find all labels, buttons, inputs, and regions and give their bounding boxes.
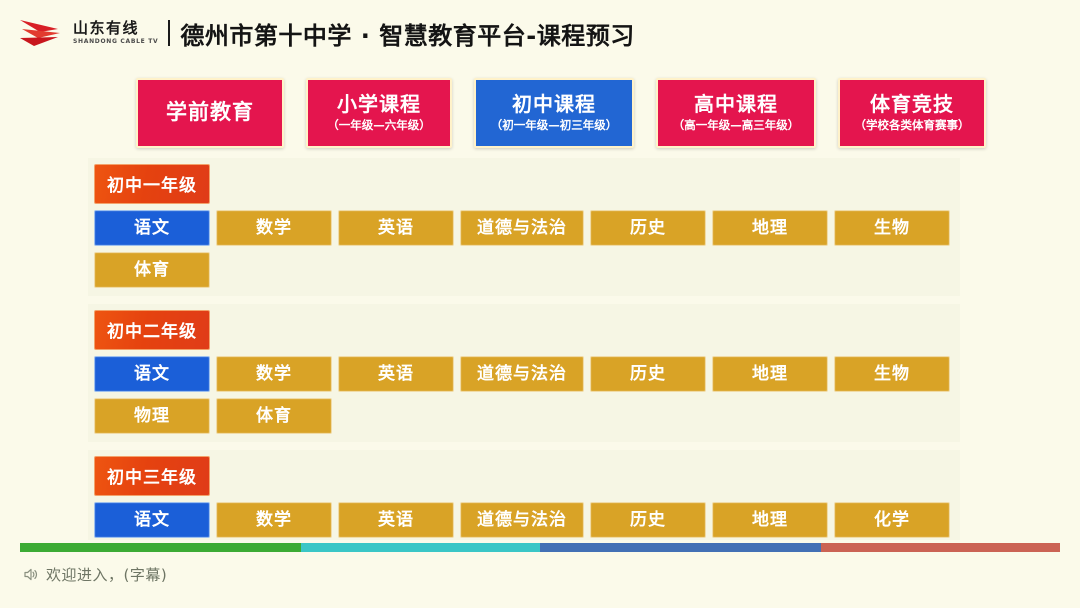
caption-text: 欢迎进入，(字幕): [46, 564, 167, 585]
grade-label[interactable]: 初中二年级: [94, 310, 210, 350]
category-button-senior-high[interactable]: 高中课程 （高一年级—高三年级）: [656, 78, 816, 148]
caption-row: 欢迎进入，(字幕): [22, 564, 167, 585]
page-title: 德州市第十中学 · 智慧教育平台-课程预习: [180, 16, 634, 51]
subject-button[interactable]: 道德与法治: [460, 356, 584, 392]
category-label: 学前教育: [166, 100, 254, 125]
subject-button[interactable]: 英语: [338, 210, 454, 246]
category-label: 体育竞技: [870, 93, 954, 117]
category-button-preschool[interactable]: 学前教育: [136, 78, 284, 148]
category-nav: 学前教育 小学课程 （一年级—六年级） 初中课程 （初一年级—初三年级） 高中课…: [0, 78, 1080, 148]
subject-button[interactable]: 体育: [94, 252, 210, 288]
subject-button[interactable]: 化学: [834, 502, 950, 538]
app-header: 山东有线 SHANDONG CABLE TV 德州市第十中学 · 智慧教育平台-…: [0, 0, 1080, 66]
subject-button[interactable]: 生物: [834, 356, 950, 392]
subject-button[interactable]: 道德与法治: [460, 210, 584, 246]
subject-button[interactable]: 数学: [216, 502, 332, 538]
subject-button[interactable]: 语文: [94, 356, 210, 392]
category-label: 小学课程: [337, 93, 421, 117]
grade-label[interactable]: 初中三年级: [94, 456, 210, 496]
category-button-sports[interactable]: 体育竞技 （学校各类体育赛事）: [838, 78, 986, 148]
color-bar-segment: [301, 543, 540, 552]
subject-row: 体育: [94, 252, 952, 288]
speaker-icon[interactable]: [22, 566, 39, 583]
category-sublabel: （学校各类体育赛事）: [855, 119, 970, 132]
subject-row: 语文数学英语道德与法治历史地理生物: [94, 210, 952, 246]
subject-button[interactable]: 地理: [712, 502, 828, 538]
subject-button[interactable]: 历史: [590, 210, 706, 246]
color-progress-bar[interactable]: [20, 543, 1060, 552]
logo-chinese-name: 山东有线: [73, 21, 158, 36]
brand-logo[interactable]: 山东有线 SHANDONG CABLE TV: [18, 16, 158, 50]
color-bar-segment: [20, 543, 301, 552]
category-label: 初中课程: [512, 93, 596, 117]
color-bar-segment: [821, 543, 1060, 552]
subject-button[interactable]: 道德与法治: [460, 502, 584, 538]
grade-panel-list: 初中一年级语文数学英语道德与法治历史地理生物体育初中二年级语文数学英语道德与法治…: [0, 158, 1080, 588]
subject-button[interactable]: 数学: [216, 210, 332, 246]
subject-button[interactable]: 物理: [94, 398, 210, 434]
category-button-junior-high[interactable]: 初中课程 （初一年级—初三年级）: [474, 78, 634, 148]
subject-row: 物理体育: [94, 398, 952, 434]
subject-button[interactable]: 历史: [590, 356, 706, 392]
subject-button[interactable]: 生物: [834, 210, 950, 246]
category-sublabel: （一年级—六年级）: [327, 119, 431, 132]
category-label: 高中课程: [694, 93, 778, 117]
subject-button[interactable]: 体育: [216, 398, 332, 434]
logo-english-name: SHANDONG CABLE TV: [73, 39, 158, 45]
subject-button[interactable]: 英语: [338, 502, 454, 538]
header-divider: [168, 20, 170, 46]
subject-row: 语文数学英语道德与法治历史地理化学: [94, 502, 952, 538]
subject-button[interactable]: 英语: [338, 356, 454, 392]
subject-row: 语文数学英语道德与法治历史地理生物: [94, 356, 952, 392]
category-button-primary[interactable]: 小学课程 （一年级—六年级）: [306, 78, 452, 148]
subject-button[interactable]: 语文: [94, 502, 210, 538]
grade-panel: 初中二年级语文数学英语道德与法治历史地理生物物理体育: [88, 304, 960, 442]
cable-arrow-logo-icon: [18, 16, 64, 50]
bottom-bar: 欢迎进入，(字幕): [0, 540, 1080, 608]
category-sublabel: （高一年级—高三年级）: [673, 119, 800, 132]
subject-button[interactable]: 历史: [590, 502, 706, 538]
subject-button[interactable]: 地理: [712, 356, 828, 392]
color-bar-segment: [540, 543, 821, 552]
subject-button[interactable]: 数学: [216, 356, 332, 392]
grade-panel: 初中一年级语文数学英语道德与法治历史地理生物体育: [88, 158, 960, 296]
subject-button[interactable]: 语文: [94, 210, 210, 246]
subject-button[interactable]: 地理: [712, 210, 828, 246]
grade-label[interactable]: 初中一年级: [94, 164, 210, 204]
category-sublabel: （初一年级—初三年级）: [491, 119, 618, 132]
